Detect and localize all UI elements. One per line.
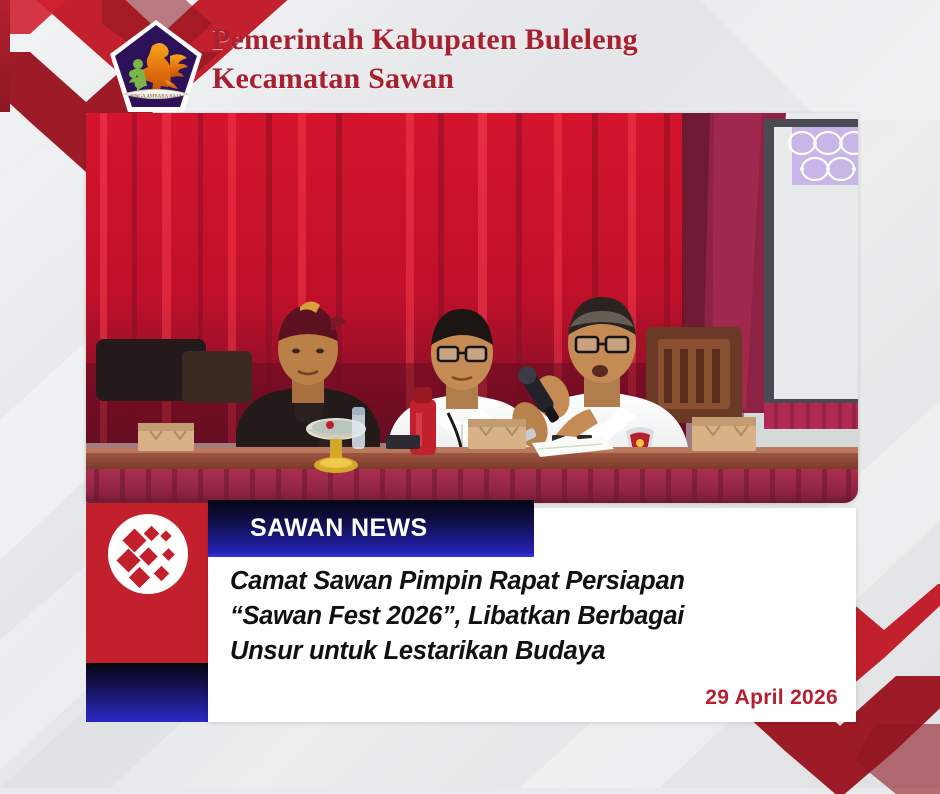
- buleleng-regency-emblem-icon: SINGA AMBARA RAJA: [108, 18, 204, 116]
- header-title-block: Pemerintah Kabupaten Buleleng Kecamatan …: [212, 20, 912, 98]
- news-panel-blue-footer: [86, 663, 208, 722]
- svg-text:SINGA AMBARA RAJA: SINGA AMBARA RAJA: [130, 95, 182, 100]
- meeting-photograph: [86, 113, 858, 503]
- sawan-news-diamond-logo-icon: [102, 508, 194, 600]
- news-headline: Camat Sawan Pimpin Rapat Persiapan “Sawa…: [230, 564, 838, 669]
- header-accent-bar: [0, 0, 10, 112]
- news-date: 29 April 2026: [230, 686, 838, 710]
- news-photo: [86, 113, 858, 503]
- page-title-line2: Kecamatan Sawan: [212, 59, 912, 98]
- headline-line-1: Camat Sawan Pimpin Rapat Persiapan: [230, 564, 838, 599]
- snack-box-left: [138, 423, 194, 451]
- snack-box-center: [468, 419, 526, 449]
- snack-box-right: [692, 417, 756, 451]
- headline-line-2: “Sawan Fest 2026”, Libatkan Berbagai: [230, 599, 838, 634]
- headline-line-3: Unsur untuk Lestarikan Budaya: [230, 634, 838, 669]
- water-bottle: [352, 407, 365, 449]
- header: SINGA AMBARA RAJA Pemerintah Kabupaten B…: [0, 0, 940, 112]
- news-badge: SAWAN NEWS: [208, 500, 534, 557]
- news-badge-label: SAWAN NEWS: [208, 514, 428, 543]
- page-title-line1: Pemerintah Kabupaten Buleleng: [212, 20, 912, 59]
